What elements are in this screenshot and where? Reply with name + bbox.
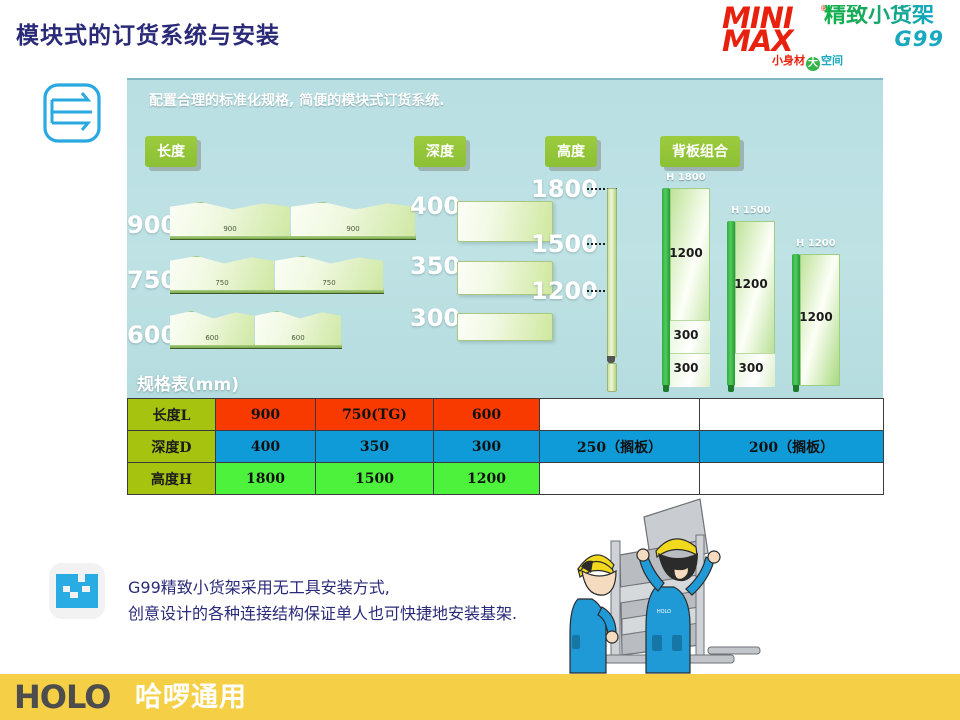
footer-logo-holo: HOLO	[14, 678, 110, 716]
table-cell-length-5	[700, 399, 884, 431]
backboard-1800-post-foot	[663, 385, 669, 392]
shelf-750-right-label: 750	[275, 279, 383, 287]
table-row-label-length: 长度L	[128, 399, 216, 431]
table-cell-depth-2: 350	[316, 431, 434, 463]
spec-table-caption: 规格表(mm)	[137, 370, 239, 395]
table-row-label-depth: 深度D	[128, 431, 216, 463]
label-length: 长度	[145, 136, 197, 167]
depth-bar-300	[457, 313, 553, 341]
table-row: 长度L 900 750(TG) 600	[128, 399, 884, 431]
height-ruler-post	[607, 188, 617, 358]
table-cell-depth-4: 250（搁板）	[540, 431, 700, 463]
table-cell-height-3: 1200	[434, 463, 540, 495]
shelf-750-right: 750	[275, 256, 383, 290]
panel-headline: 配置合理的标准化规格, 简便的模块式订货系统.	[149, 90, 445, 110]
label-depth: 深度	[414, 136, 466, 167]
brand-chinese-name: 精致小货架	[824, 5, 934, 27]
shelf-600-right: 600	[255, 311, 341, 345]
backboard-1800-seg-300b: 300	[662, 361, 710, 375]
brand-tagline: 小身材大空间	[772, 52, 843, 71]
table-row: 高度H 1800 1500 1200	[128, 463, 884, 495]
label-backboard: 背板组合	[660, 136, 740, 167]
backboard-1800-seg-1200: 1200	[662, 246, 710, 260]
brand-tagline-circle: 大	[806, 57, 820, 71]
backboard-1500: H 1500 1200 300	[727, 221, 775, 386]
puzzle-connector-icon	[48, 562, 106, 620]
backboard-1200-caption: H 1200	[796, 238, 836, 249]
shelf-600-right-label: 600	[255, 334, 341, 342]
table-cell-depth-3: 300	[434, 431, 540, 463]
backboard-1200: H 1200 1200	[792, 254, 840, 386]
depth-value-350: 350	[410, 252, 460, 280]
table-cell-height-4	[540, 463, 700, 495]
table-cell-length-1: 900	[216, 399, 316, 431]
backboard-1500-post-foot	[728, 385, 734, 392]
table-cell-depth-1: 400	[216, 431, 316, 463]
backboard-1800-caption: H 1800	[666, 172, 706, 183]
label-height: 高度	[545, 136, 597, 167]
shelf-900-left: 900	[170, 202, 290, 236]
brand-tagline-right: 空间	[821, 54, 843, 67]
backboard-1500-seg-300: 300	[727, 361, 775, 375]
height-ruler-cap	[607, 356, 615, 363]
backboard-1500-caption: H 1500	[731, 205, 771, 216]
shelf-600-left: 600	[170, 311, 254, 345]
shelf-layers-icon	[42, 82, 102, 144]
table-cell-height-5	[700, 463, 884, 495]
brand-tagline-left: 小身材	[772, 54, 805, 67]
table-cell-height-2: 1500	[316, 463, 434, 495]
brand-logo: MINI ® MAX 精致小货架 G99 小身材大空间	[716, 2, 952, 68]
shelf-750-left: 750	[170, 256, 274, 290]
table-row-label-height: 高度H	[128, 463, 216, 495]
spec-table: 长度L 900 750(TG) 600 深度D 400 350 300 250（…	[127, 398, 884, 495]
spec-illustration-panel: 配置合理的标准化规格, 简便的模块式订货系统. 长度 深度 高度 背板组合 90…	[127, 78, 883, 400]
shelf-900-left-label: 900	[170, 225, 290, 233]
shelf-pair-900: 900 900	[170, 202, 415, 242]
shelf-pair-600: 600 600	[170, 311, 345, 351]
table-row: 深度D 400 350 300 250（搁板） 200（搁板）	[128, 431, 884, 463]
table-cell-length-2: 750(TG)	[316, 399, 434, 431]
slide-root: 模块式的订货系统与安装 MINI ® MAX 精致小货架 G99 小身材大空间 …	[0, 0, 960, 720]
backboard-1200-post-foot	[793, 385, 799, 392]
shelf-900-right: 900	[291, 202, 415, 236]
backboard-1200-seg-1200: 1200	[792, 310, 840, 324]
page-title: 模块式的订货系统与安装	[16, 16, 280, 50]
table-cell-height-1: 1800	[216, 463, 316, 495]
footer-company-name: 哈啰通用	[135, 680, 247, 716]
brand-model-g99: G99	[895, 29, 944, 50]
table-cell-length-4	[540, 399, 700, 431]
shelf-600-left-label: 600	[170, 334, 254, 342]
backboard-1800-seg-300a: 300	[662, 328, 710, 342]
table-cell-depth-5: 200（搁板）	[700, 431, 884, 463]
height-ruler-foot-post	[607, 363, 617, 392]
table-cell-length-3: 600	[434, 399, 540, 431]
shelf-pair-750: 750 750	[170, 256, 385, 296]
bottom-note-line2: 创意设计的各种连接结构保证单人也可快捷地安装基架.	[128, 601, 517, 627]
svg-text:HOLO: HOLO	[657, 609, 671, 615]
shelf-900-right-label: 900	[291, 225, 415, 233]
workers-illustration: HOLO	[548, 495, 768, 675]
bottom-note-line1: G99精致小货架采用无工具安装方式,	[128, 575, 517, 601]
bottom-note: G99精致小货架采用无工具安装方式, 创意设计的各种连接结构保证单人也可快捷地安…	[128, 575, 517, 627]
depth-value-400: 400	[410, 192, 460, 220]
backboard-1500-seg-1200: 1200	[727, 277, 775, 291]
footer-bar: HOLO 哈啰通用	[0, 674, 960, 720]
backboard-1800-post	[662, 188, 670, 386]
backboard-1800: H 1800 1200 300 300	[662, 188, 710, 386]
shelf-750-left-label: 750	[170, 279, 274, 287]
depth-value-300: 300	[410, 304, 460, 332]
